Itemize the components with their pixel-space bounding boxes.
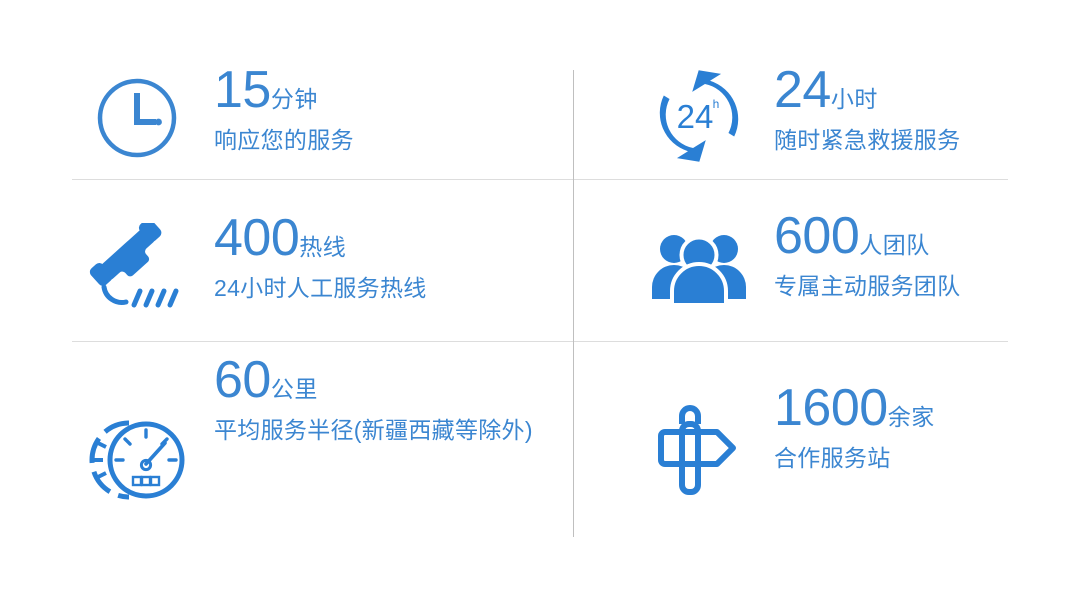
stat-card-emergency-rescue: 24 h 24小时 随时紧急救援服务 [640, 62, 1040, 179]
stat-number: 60 [214, 351, 271, 409]
stat-headline: 15分钟 [214, 64, 354, 117]
stat-unit: 余家 [888, 404, 935, 430]
stat-card-response-time: 15分钟 响应您的服务 [72, 62, 572, 179]
horizontal-divider-2 [72, 341, 1008, 342]
stat-headline: 1600余家 [774, 382, 935, 435]
stat-description: 随时紧急救援服务 [774, 124, 960, 157]
stat-text-emergency-rescue: 24小时 随时紧急救援服务 [774, 62, 960, 157]
stat-headline: 400热线 [214, 212, 427, 265]
stat-description: 专属主动服务团队 [774, 270, 960, 303]
stat-number: 15 [214, 61, 271, 119]
stat-text-hotline: 400热线 24小时人工服务热线 [214, 210, 427, 305]
stat-card-hotline: 400热线 24小时人工服务热线 [72, 196, 572, 341]
stat-number: 24 [774, 61, 831, 119]
stat-number: 400 [214, 209, 299, 267]
stat-number: 1600 [774, 379, 888, 437]
stat-card-service-radius: 60公里 平均服务半径(新疆西藏等除外) [72, 352, 582, 537]
stat-description: 响应您的服务 [214, 124, 354, 157]
stat-headline: 24小时 [774, 64, 960, 117]
stat-text-response-time: 15分钟 响应您的服务 [214, 62, 354, 157]
service-stats-panel: 15分钟 响应您的服务 24 h 24小时 随时紧急救援服务 [0, 0, 1080, 611]
stat-card-team-size: 600人团队 专属主动服务团队 [640, 196, 1040, 341]
stat-headline: 60公里 [214, 354, 570, 407]
speedometer-icon [72, 400, 202, 520]
horizontal-divider-1 [72, 179, 1008, 180]
stat-description: 24小时人工服务热线 [214, 272, 427, 305]
svg-text:h: h [713, 97, 720, 111]
clock-icon [72, 68, 202, 168]
phone-icon [72, 214, 202, 324]
stat-card-service-stations: 1600余家 合作服务站 [640, 352, 1040, 537]
stat-unit: 公里 [271, 376, 318, 402]
24h-cycle-icon: 24 h [640, 66, 758, 166]
stat-number: 600 [774, 207, 859, 265]
stat-text-team-size: 600人团队 专属主动服务团队 [774, 208, 960, 303]
signpost-icon [640, 390, 758, 510]
people-group-icon [640, 212, 758, 322]
stat-text-service-radius: 60公里 平均服务半径(新疆西藏等除外) [214, 352, 570, 447]
stat-unit: 分钟 [271, 86, 318, 112]
stat-unit: 热线 [299, 234, 346, 260]
stat-text-service-stations: 1600余家 合作服务站 [774, 380, 935, 475]
stat-unit: 人团队 [859, 232, 930, 258]
stat-description: 平均服务半径(新疆西藏等除外) [214, 414, 570, 447]
stat-unit: 小时 [831, 86, 878, 112]
stat-description: 合作服务站 [774, 442, 935, 475]
stat-headline: 600人团队 [774, 210, 960, 263]
svg-text:24: 24 [677, 98, 714, 135]
